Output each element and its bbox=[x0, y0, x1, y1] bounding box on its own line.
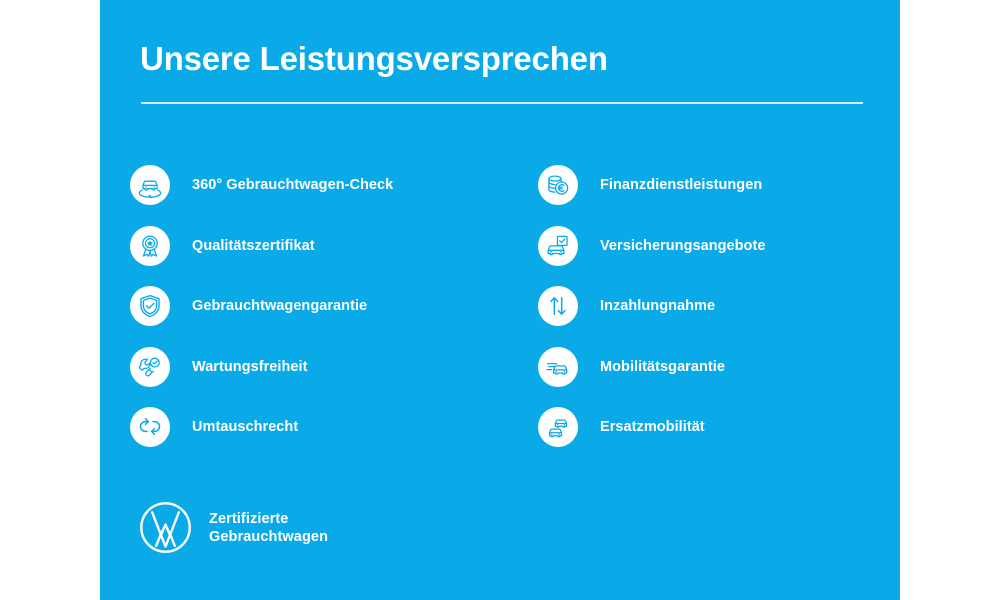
feature-item-financial-services[interactable]: Finanzdienstleistungen bbox=[538, 155, 938, 216]
feature-item-quality-certificate[interactable]: Qualitätszertifikat bbox=[130, 216, 530, 277]
features-column-left: 360° Gebrauchtwagen-Check Qualitätszerti… bbox=[130, 155, 530, 458]
feature-label: Umtauschrecht bbox=[192, 419, 298, 435]
promise-panel: Unsere Leistungsversprechen bbox=[100, 0, 900, 600]
feature-label: Qualitätszertifikat bbox=[192, 238, 315, 254]
car-motion-icon bbox=[538, 347, 578, 387]
coins-euro-icon bbox=[538, 165, 578, 205]
feature-item-maintenance-free[interactable]: Wartungsfreiheit bbox=[130, 337, 530, 398]
feature-item-trade-in[interactable]: Inzahlungnahme bbox=[538, 276, 938, 337]
page-title: Unsere Leistungsversprechen bbox=[140, 40, 608, 78]
brand-line-2: Gebrauchtwagen bbox=[209, 528, 328, 546]
feature-item-replacement-mobility[interactable]: Ersatzmobilität bbox=[538, 397, 938, 458]
features-grid: 360° Gebrauchtwagen-Check Qualitätszerti… bbox=[100, 155, 900, 455]
feature-label: Gebrauchtwagengarantie bbox=[192, 298, 367, 314]
feature-item-used-car-warranty[interactable]: Gebrauchtwagengarantie bbox=[130, 276, 530, 337]
quality-medal-icon bbox=[130, 226, 170, 266]
feature-item-insurance-offers[interactable]: Versicherungsangebote bbox=[538, 216, 938, 277]
volkswagen-logo-icon bbox=[138, 500, 193, 555]
features-column-right: Finanzdienstleistungen Versicheru bbox=[538, 155, 938, 458]
feature-label: Finanzdienstleistungen bbox=[600, 177, 762, 193]
feature-label: Inzahlungnahme bbox=[600, 298, 715, 314]
screenshot-canvas: Unsere Leistungsversprechen bbox=[0, 0, 1000, 600]
car-document-check-icon bbox=[538, 226, 578, 266]
title-divider bbox=[141, 102, 863, 104]
shield-check-icon bbox=[130, 286, 170, 326]
exchange-arrows-icon bbox=[130, 407, 170, 447]
feature-label: Versicherungsangebote bbox=[600, 238, 765, 254]
up-down-arrows-icon bbox=[538, 286, 578, 326]
feature-item-360-check[interactable]: 360° Gebrauchtwagen-Check bbox=[130, 155, 530, 216]
feature-item-mobility-guarantee[interactable]: Mobilitätsgarantie bbox=[538, 337, 938, 398]
brand-line-1: Zertifizierte bbox=[209, 510, 328, 528]
feature-item-exchange-right[interactable]: Umtauschrecht bbox=[130, 397, 530, 458]
feature-label: 360° Gebrauchtwagen-Check bbox=[192, 177, 393, 193]
feature-label: Ersatzmobilität bbox=[600, 419, 705, 435]
feature-label: Mobilitätsgarantie bbox=[600, 359, 725, 375]
car-360-check-icon bbox=[130, 165, 170, 205]
wrench-screwdriver-check-icon bbox=[130, 347, 170, 387]
feature-label: Wartungsfreiheit bbox=[192, 359, 307, 375]
brand-text: Zertifizierte Gebrauchtwagen bbox=[209, 510, 328, 546]
two-cars-icon bbox=[538, 407, 578, 447]
brand-footer: Zertifizierte Gebrauchtwagen bbox=[138, 500, 328, 555]
